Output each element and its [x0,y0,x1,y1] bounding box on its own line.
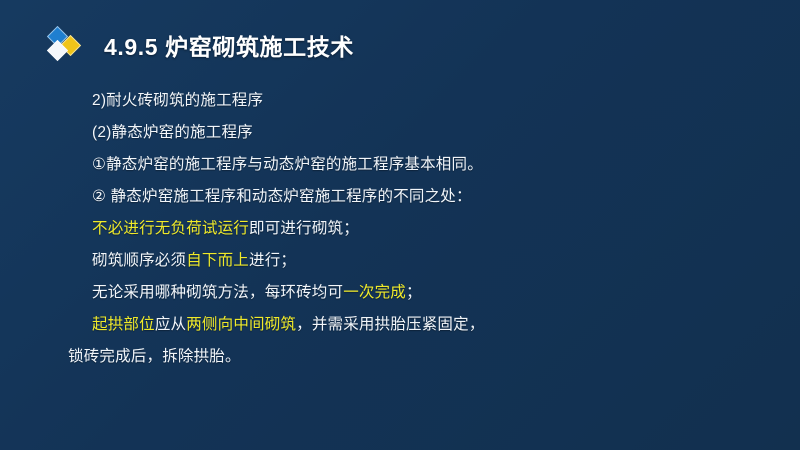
body-line: ①静态炉窑的施工程序与动态炉窑的施工程序基本相同。 [0,148,800,180]
body-line: 无论采用哪种砌筑方法，每环砖均可一次完成； [0,276,800,308]
body-text-segment: 砌筑顺序必须 [92,251,186,270]
three-diamond-logo-icon [46,24,92,66]
body-line: (2)静态炉窑的施工程序 [0,116,800,148]
body-text-segment: ①静态炉窑的施工程序与动态炉窑的施工程序基本相同。 [92,155,483,174]
body-line: ② 静态炉窑施工程序和动态炉窑施工程序的不同之处： [0,180,800,212]
body-text-segment: ； [406,283,422,302]
body-text-segment: 2)耐火砖砌筑的施工程序 [92,91,263,110]
body-text-segment: ，并需采用拱胎压紧固定， [296,315,484,334]
body-text-segment: 进行； [249,251,296,270]
body-text-segment: 锁砖完成后，拆除拱胎。 [68,347,241,366]
body-line: 砌筑顺序必须自下而上进行； [0,244,800,276]
body-line: 2)耐火砖砌筑的施工程序 [0,84,800,116]
page-title: 4.9.5 炉窑砌筑施工技术 [104,28,354,62]
highlighted-text: 一次完成 [343,283,406,302]
highlighted-text: 自下而上 [186,251,249,270]
presentation-slide: 4.9.5 炉窑砌筑施工技术 2)耐火砖砌筑的施工程序(2)静态炉窑的施工程序①… [0,0,800,450]
body-text-segment: 无论采用哪种砌筑方法，每环砖均可 [92,283,343,302]
body-text-segment: 应从 [155,315,186,334]
body-text-segment: 即可进行砌筑； [249,219,359,238]
slide-body: 2)耐火砖砌筑的施工程序(2)静态炉窑的施工程序①静态炉窑的施工程序与动态炉窑的… [0,84,800,372]
body-text-segment: ② 静态炉窑施工程序和动态炉窑施工程序的不同之处： [92,187,472,206]
highlighted-text: 起拱部位 [92,315,155,334]
body-line: 锁砖完成后，拆除拱胎。 [0,340,800,372]
body-text-segment: (2)静态炉窑的施工程序 [92,123,253,142]
highlighted-text: 不必进行无负荷试运行 [92,219,249,238]
body-line: 起拱部位应从两侧向中间砌筑，并需采用拱胎压紧固定， [0,308,800,340]
slide-title-bar: 4.9.5 炉窑砌筑施工技术 [0,22,800,68]
body-line: 不必进行无负荷试运行即可进行砌筑； [0,212,800,244]
highlighted-text: 两侧向中间砌筑 [186,315,296,334]
